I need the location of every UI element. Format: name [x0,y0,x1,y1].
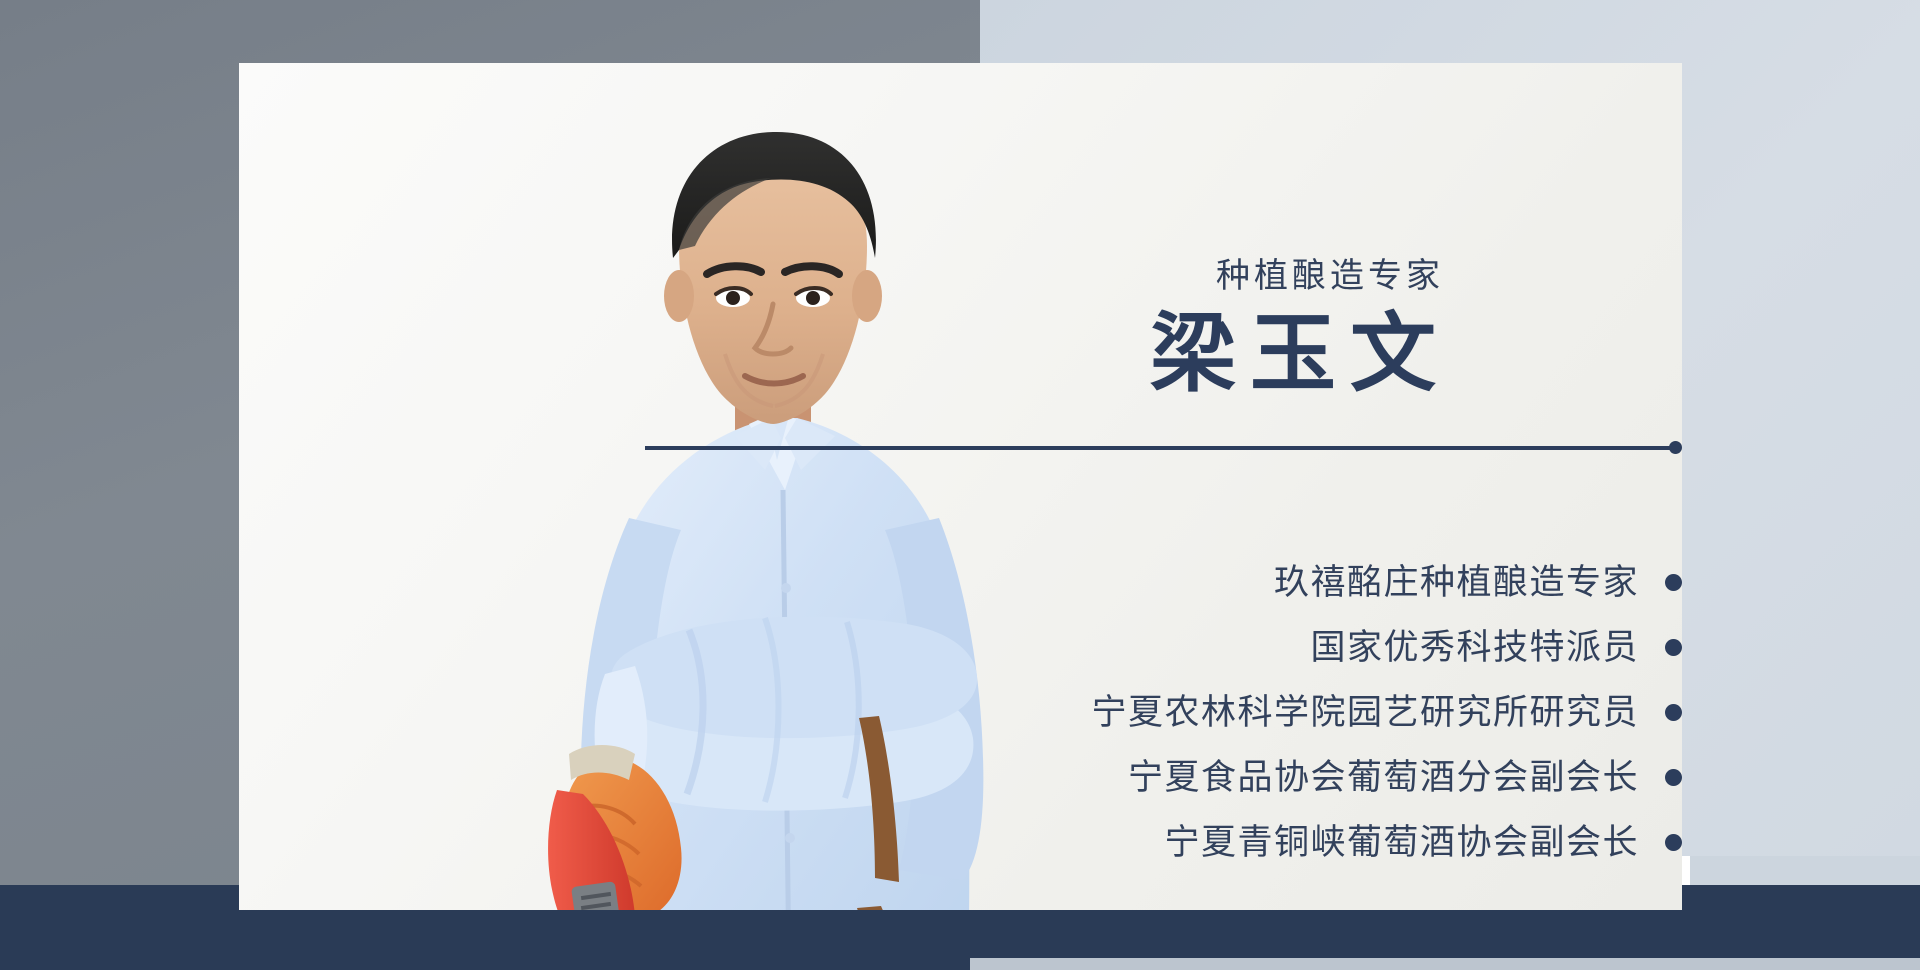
credential-bullet-icon [1665,769,1682,786]
role-eyebrow: 种植酿造专家 [1216,259,1444,293]
credential-item: 宁夏食品协会葡萄酒分会副会长 [782,745,1682,810]
credential-label: 宁夏青铜峡葡萄酒协会副会长 [1164,825,1639,860]
credential-bullet-icon [1665,834,1682,851]
credentials-list: 玖禧酩庄种植酿造专家国家优秀科技特派员宁夏农林科学院园艺研究所研究员宁夏食品协会… [782,550,1682,875]
background-strip-bottom-right [970,958,1920,970]
credential-item: 国家优秀科技特派员 [782,615,1682,680]
credential-label: 宁夏农林科学院园艺研究所研究员 [1091,695,1639,730]
poster-canvas: 种植酿造专家 梁玉文 玖禧酩庄种植酿造专家国家优秀科技特派员宁夏农林科学院园艺研… [0,0,1920,970]
credential-label: 玖禧酩庄种植酿造专家 [1274,565,1639,600]
credential-item: 宁夏农林科学院园艺研究所研究员 [782,680,1682,745]
credential-label: 国家优秀科技特派员 [1310,630,1639,665]
credential-bullet-icon [1665,639,1682,656]
credential-bullet-icon [1665,574,1682,591]
background-panel-right-lower [1690,856,1920,885]
credential-item: 玖禧酩庄种植酿造专家 [782,550,1682,615]
credential-bullet-icon [1665,704,1682,721]
divider-end-dot-icon [1669,441,1682,454]
profile-card: 种植酿造专家 梁玉文 玖禧酩庄种植酿造专家国家优秀科技特派员宁夏农林科学院园艺研… [239,63,1682,910]
person-name: 梁玉文 [1150,309,1450,399]
divider-line [645,446,1675,450]
credential-item: 宁夏青铜峡葡萄酒协会副会长 [782,810,1682,875]
credential-label: 宁夏食品协会葡萄酒分会副会长 [1128,760,1639,795]
